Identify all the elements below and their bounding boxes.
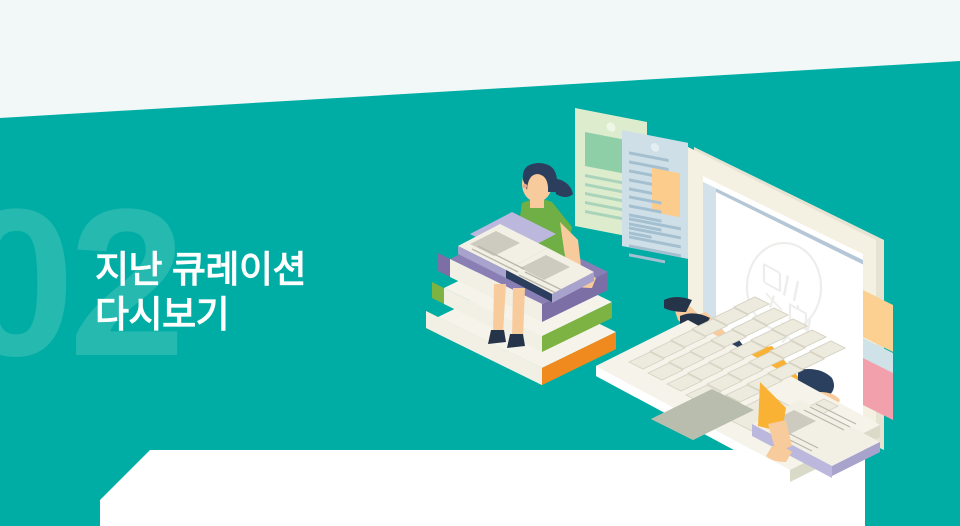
sitting-ear <box>523 184 527 188</box>
sitting-shoe-left <box>488 330 506 344</box>
isometric-illustration <box>0 0 960 526</box>
book-purple-spine <box>438 253 450 277</box>
sitting-shoe-right <box>507 334 525 348</box>
book-green-spine <box>432 282 444 304</box>
sitting-leg-right <box>512 288 525 338</box>
sitting-ponytail <box>552 178 573 197</box>
curation-banner: 02 지난 큐레이션 다시보기 <box>0 0 960 526</box>
document-blue <box>622 130 688 268</box>
